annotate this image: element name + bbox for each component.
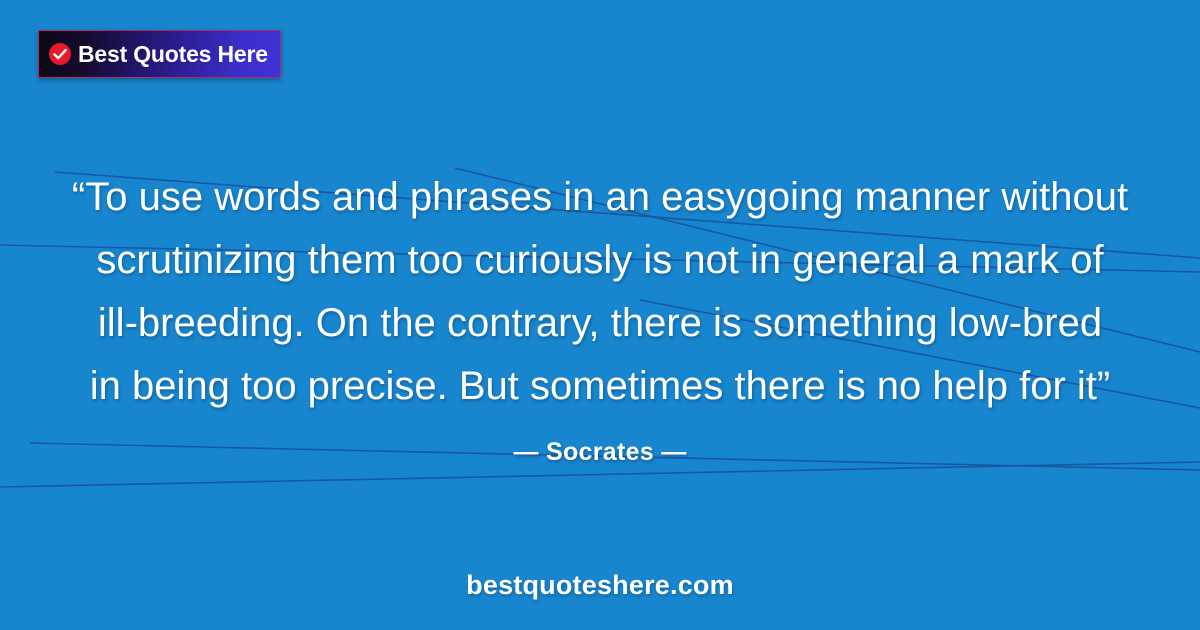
quote-line: in being too precise. But sometimes ther…	[0, 355, 1200, 418]
brand-badge[interactable]: Best Quotes Here	[38, 30, 281, 78]
quote-attribution: — Socrates —	[0, 438, 1200, 467]
quote-line: ill-breeding. On the contrary, there is …	[0, 292, 1200, 355]
site-url[interactable]: bestquoteshere.com	[0, 570, 1200, 601]
quote-line: scrutinizing them too curiously is not i…	[0, 229, 1200, 292]
brand-label: Best Quotes Here	[78, 43, 268, 66]
quote-line: “To use words and phrases in an easygoin…	[0, 166, 1200, 229]
quote-text-block: “To use words and phrases in an easygoin…	[0, 166, 1200, 418]
check-circle-icon	[48, 42, 72, 66]
quote-card: Best Quotes Here “To use words and phras…	[0, 0, 1200, 630]
